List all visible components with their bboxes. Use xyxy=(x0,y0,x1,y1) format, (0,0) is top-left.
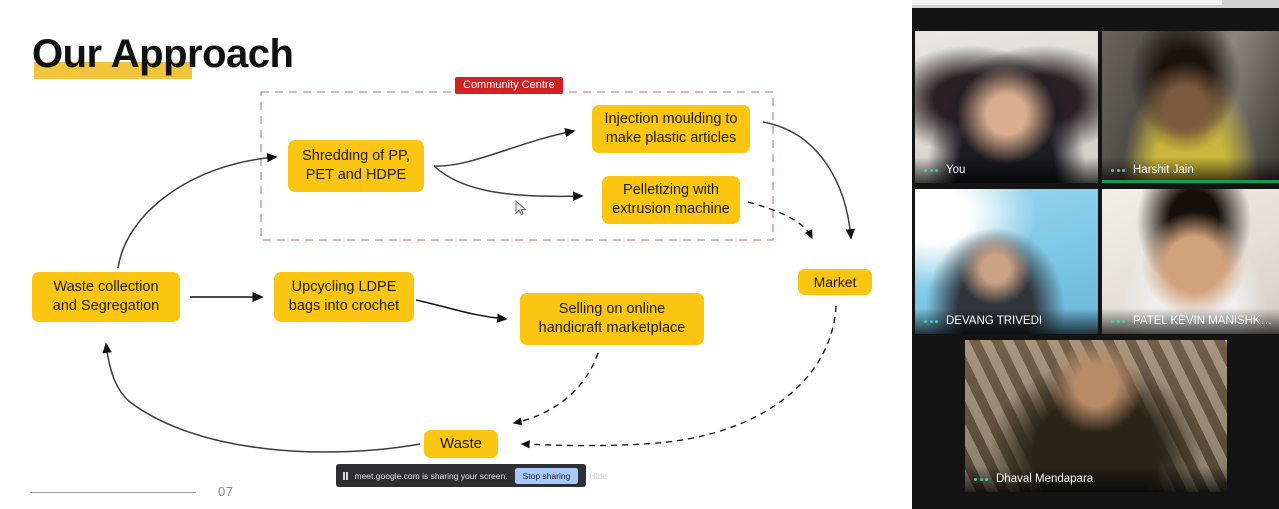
video-tile-harshit-jain[interactable]: Harshit Jain xyxy=(1102,31,1279,183)
node-shredding-line2: PET and HDPE xyxy=(302,166,410,185)
node-pelletizing: Pelletizing with extrusion machine xyxy=(602,176,740,224)
arrow-waste-to-collection xyxy=(106,344,420,452)
node-selling-line1: Selling on online xyxy=(539,300,686,319)
arrow-injection-to-market xyxy=(763,122,851,238)
participant-name: You xyxy=(946,164,965,176)
more-options-icon[interactable] xyxy=(974,478,988,481)
node-injection-line1: Injection moulding to xyxy=(605,110,738,129)
node-market: Market xyxy=(798,269,872,295)
node-shredding: Shredding of PP, PET and HDPE xyxy=(288,140,424,192)
node-waste-collection-line1: Waste collection xyxy=(53,278,159,297)
node-upcycling-line1: Upcycling LDPE xyxy=(289,278,399,297)
node-pelletizing-line2: extrusion machine xyxy=(612,200,730,219)
speaking-indicator xyxy=(1102,180,1279,183)
node-market-label: Market xyxy=(814,273,857,292)
node-upcycling: Upcycling LDPE bags into crochet xyxy=(274,272,414,322)
arrow-upcycling-to-selling xyxy=(416,300,506,319)
node-pelletizing-line1: Pelletizing with xyxy=(612,181,730,200)
screen-share-window: Our Approach xyxy=(0,0,1279,509)
more-options-icon[interactable] xyxy=(1111,320,1125,323)
tile-label: PATEL KEVIN MANISHK… xyxy=(1102,308,1279,334)
more-options-icon[interactable] xyxy=(924,320,938,323)
node-waste-label: Waste xyxy=(440,434,482,454)
node-injection-moulding: Injection moulding to make plastic artic… xyxy=(592,105,750,153)
shared-slide: Our Approach xyxy=(0,0,912,509)
video-tile-devang-trivedi[interactable]: DEVANG TRIVEDI xyxy=(915,189,1098,334)
stop-sharing-button[interactable]: Stop sharing xyxy=(515,468,579,484)
participant-name: PATEL KEVIN MANISHK… xyxy=(1133,315,1272,327)
panel-top-strip-inner xyxy=(912,0,1222,5)
participant-name: Dhaval Mendapara xyxy=(996,473,1093,485)
node-waste-collection: Waste collection and Segregation xyxy=(32,272,180,322)
arrow-selling-to-waste xyxy=(514,353,598,423)
hide-button[interactable]: Hide xyxy=(585,468,610,484)
video-tile-dhaval-mendapara[interactable]: Dhaval Mendapara xyxy=(965,340,1227,492)
video-tile-you[interactable]: You xyxy=(915,31,1098,183)
mouse-cursor-icon xyxy=(515,200,529,218)
participant-name: Harshit Jain xyxy=(1133,164,1194,176)
arrow-collection-to-shredding xyxy=(118,157,276,268)
node-injection-line2: make plastic articles xyxy=(605,129,738,148)
more-options-icon[interactable] xyxy=(924,169,938,172)
tile-label: Dhaval Mendapara xyxy=(965,466,1227,492)
community-centre-badge: Community Centre xyxy=(455,77,563,94)
share-status-text: meet.google.com is sharing your screen. xyxy=(355,471,508,481)
node-shredding-line1: Shredding of PP, xyxy=(302,147,410,166)
participant-name: DEVANG TRIVEDI xyxy=(946,315,1042,327)
tile-label: DEVANG TRIVEDI xyxy=(915,308,1098,334)
node-selling-line2: handicraft marketplace xyxy=(539,319,686,338)
node-upcycling-line2: bags into crochet xyxy=(289,297,399,316)
tile-label: You xyxy=(915,157,1098,183)
node-waste-collection-line2: and Segregation xyxy=(53,297,159,316)
arrow-shredding-to-injection xyxy=(434,131,574,166)
participant-video-panel: You Harshit Jain DEVANG TRIVEDI xyxy=(912,0,1279,509)
node-waste: Waste xyxy=(424,430,498,458)
screen-share-bar: meet.google.com is sharing your screen. … xyxy=(336,464,586,487)
more-options-icon[interactable] xyxy=(1111,169,1125,172)
panel-top-strip xyxy=(912,0,1279,8)
video-tile-patel-kevin[interactable]: PATEL KEVIN MANISHK… xyxy=(1102,189,1279,334)
node-selling-online: Selling on online handicraft marketplace xyxy=(520,293,704,345)
arrow-shredding-to-pelletizing xyxy=(434,166,582,196)
pause-icon xyxy=(343,472,348,480)
arrow-pelletizing-to-market xyxy=(748,202,812,238)
